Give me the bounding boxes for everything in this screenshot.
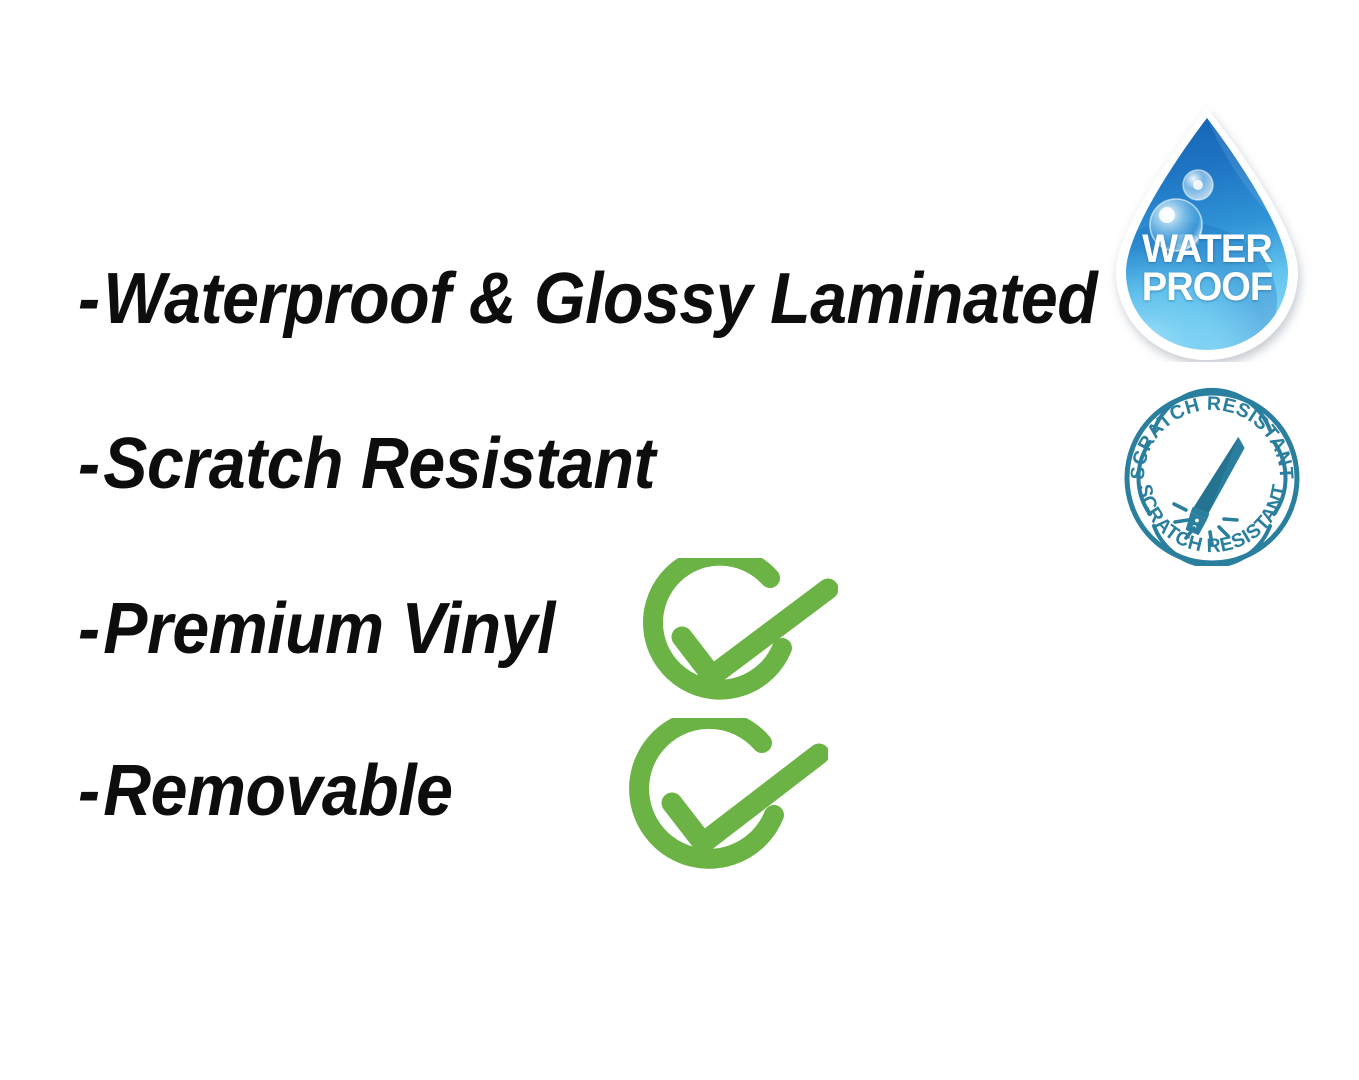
knife-icon	[1184, 431, 1248, 539]
check-circle-premium-vinyl	[638, 558, 838, 716]
water-drop-icon	[1103, 104, 1311, 362]
feature-item-premium-vinyl: -Premium Vinyl	[78, 588, 555, 670]
feature-item-waterproof: -Waterproof & Glossy Laminated	[78, 258, 1097, 340]
waterproof-badge: WATER PROOF	[1103, 104, 1311, 362]
feature-label: Scratch Resistant	[103, 424, 655, 504]
stamp-top-text: SCRATCH RESISTANT	[1127, 393, 1297, 480]
check-circle-icon	[638, 558, 838, 716]
feature-highlights-graphic: -Waterproof & Glossy Laminated -Scratch …	[0, 0, 1359, 1080]
check-circle-icon	[628, 718, 828, 883]
feature-item-removable: -Removable	[78, 750, 453, 832]
feature-bullet-dash: -	[78, 258, 100, 340]
stamp-top-text-path: SCRATCH RESISTANT	[1127, 393, 1297, 480]
feature-bullet-dash: -	[78, 588, 100, 670]
scratch-resistant-stamp-icon: SCRATCH RESISTANT SCRATCH RESISTANT	[1118, 386, 1306, 566]
scratch-resistant-badge: SCRATCH RESISTANT SCRATCH RESISTANT	[1118, 386, 1306, 566]
feature-label: Premium Vinyl	[103, 589, 555, 669]
feature-bullet-dash: -	[78, 750, 100, 832]
feature-bullet-dash: -	[78, 423, 100, 505]
check-icon	[682, 589, 828, 676]
feature-label: Waterproof & Glossy Laminated	[103, 259, 1097, 339]
check-circle-removable	[628, 718, 828, 883]
feature-label: Removable	[103, 751, 452, 831]
feature-item-scratch-resistant: -Scratch Resistant	[78, 423, 655, 505]
check-icon	[672, 754, 819, 843]
